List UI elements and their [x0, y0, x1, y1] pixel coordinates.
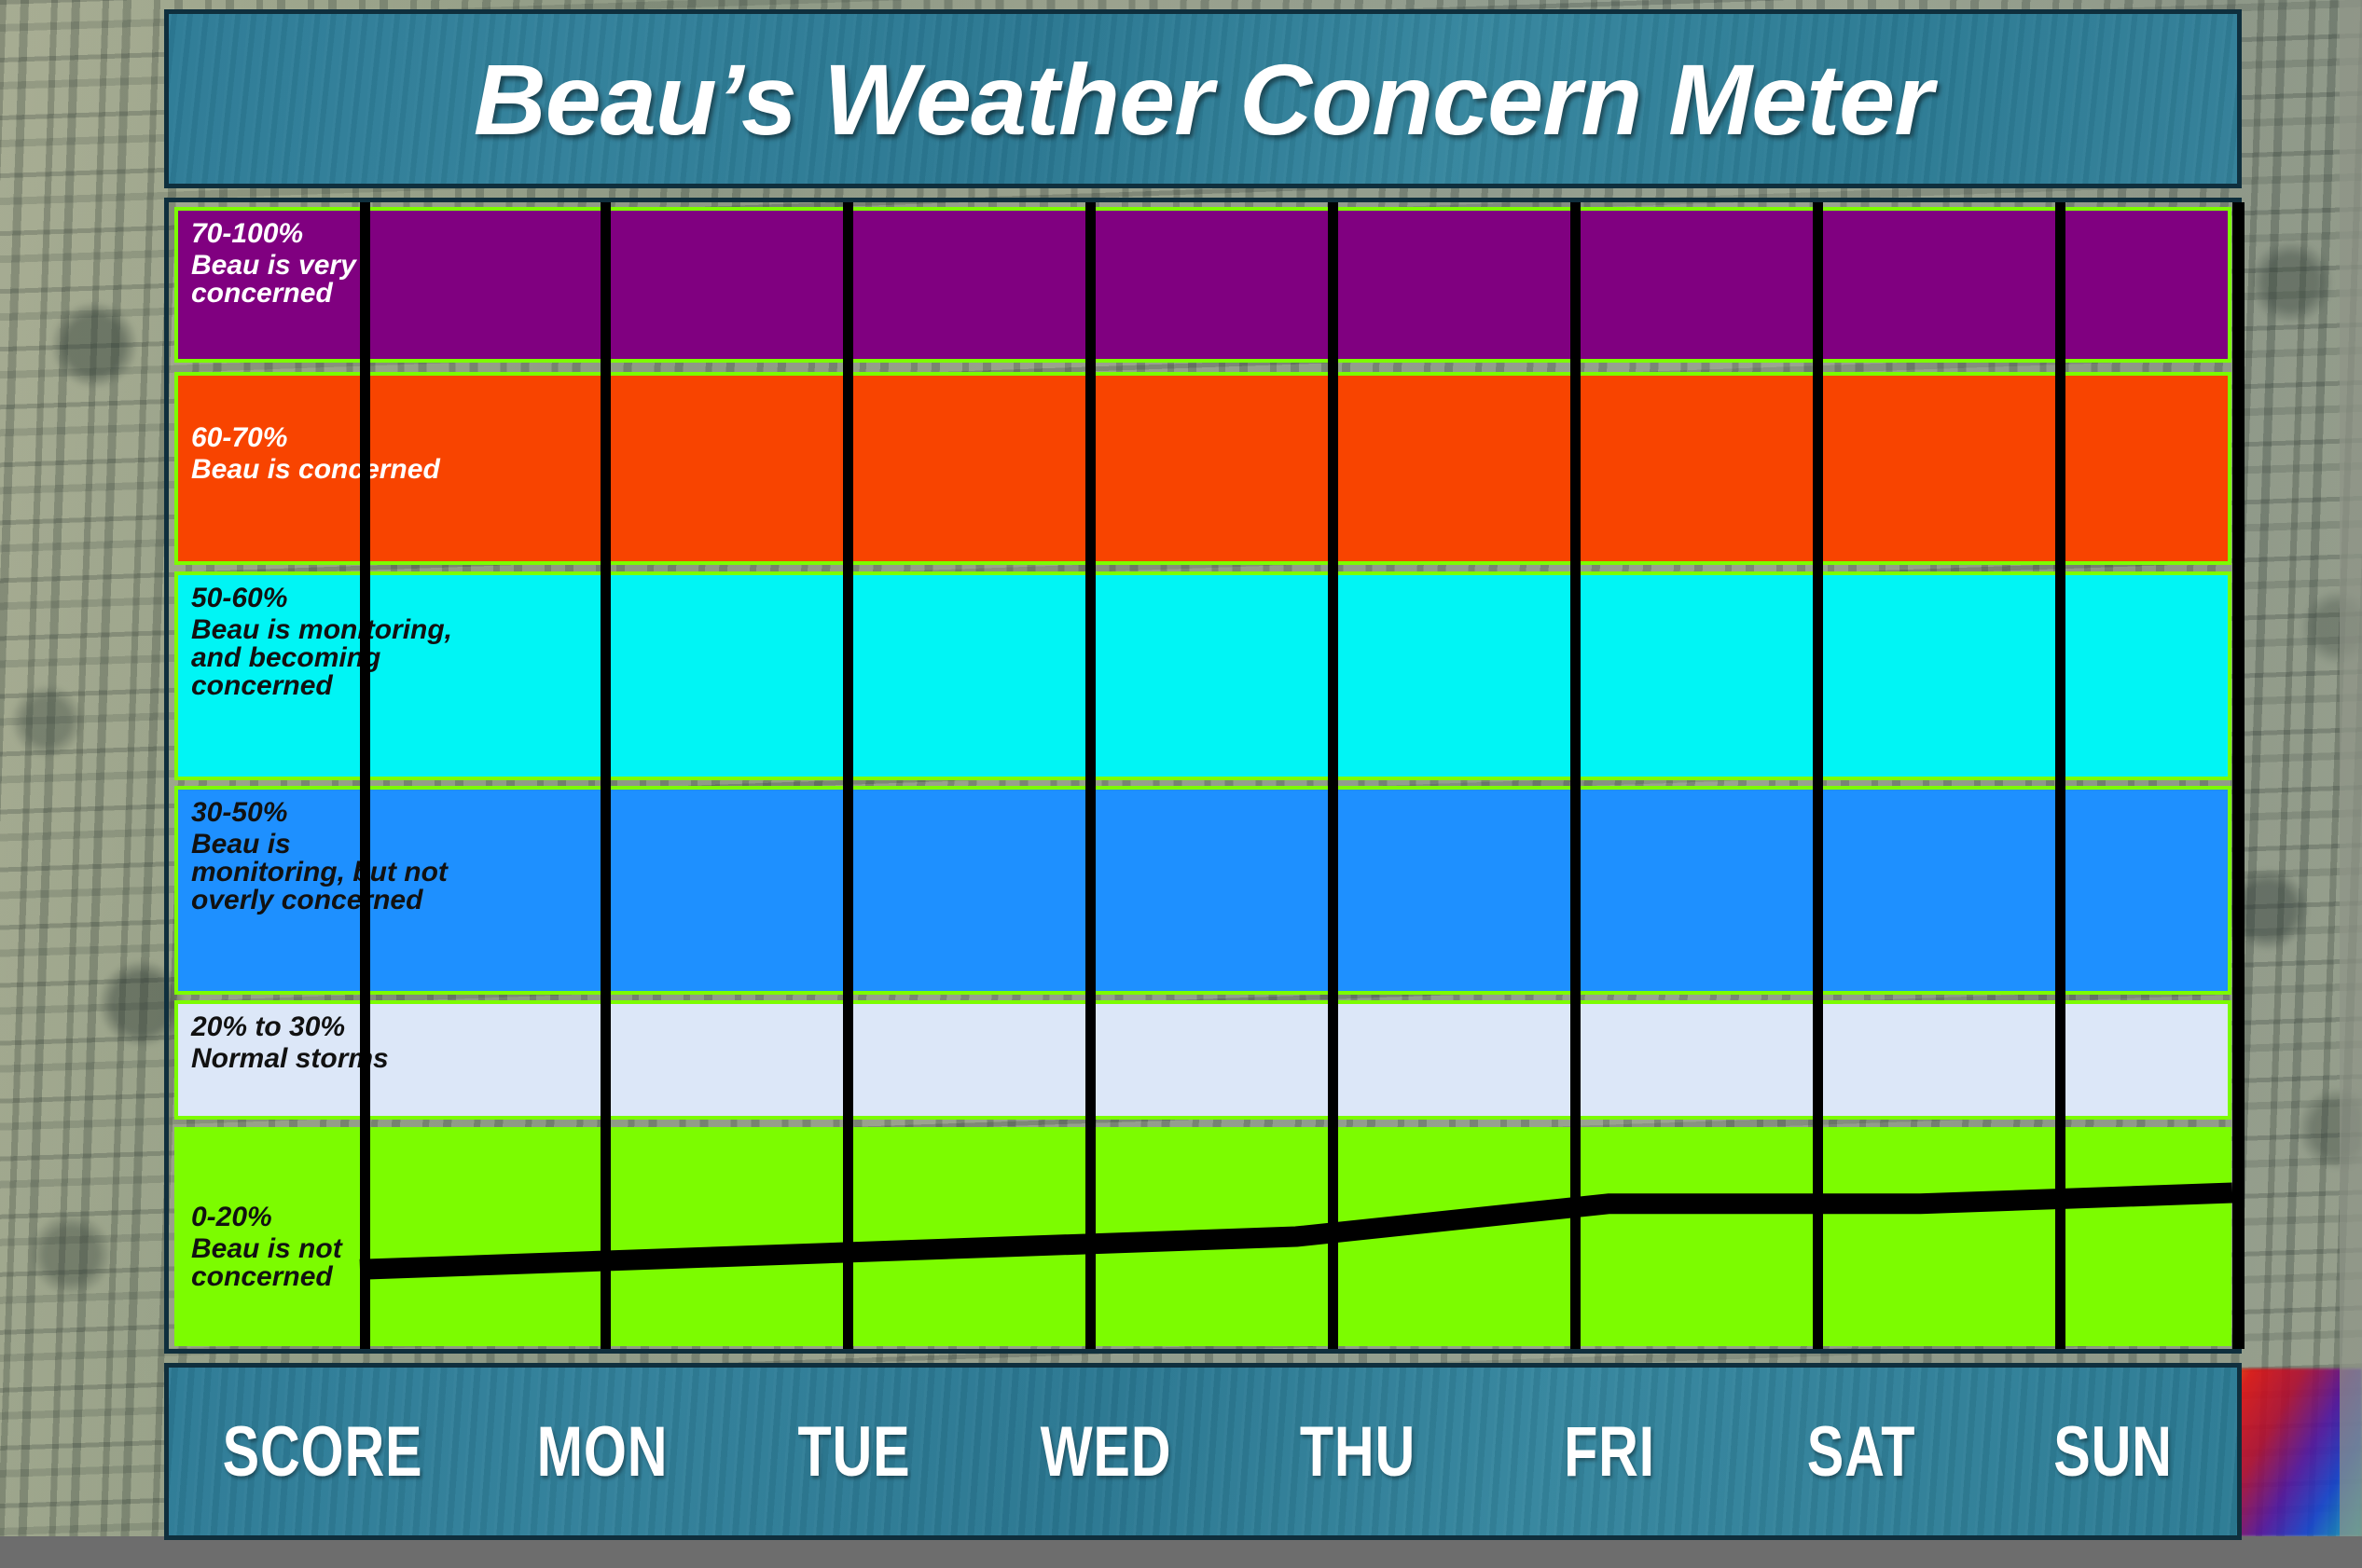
concern-band-label: 20% to 30%Normal storms: [191, 1013, 389, 1073]
day-axis-bar: SCOREMONTUEWEDTHUFRISATSUN: [164, 1363, 2242, 1540]
background-right-edge: [2340, 0, 2362, 1536]
day-label-mon: MON: [504, 1368, 701, 1535]
concern-band-label: 0-20%Beau is not concerned: [191, 1204, 342, 1291]
concern-band-range: 60-70%: [191, 424, 440, 452]
concern-band-range: 20% to 30%: [191, 1013, 389, 1041]
concern-band-30-50-: 30-50%Beau is monitoring, but not overly…: [174, 786, 2231, 995]
concern-band-range: 30-50%: [191, 799, 448, 827]
day-label-thu: THU: [1260, 1368, 1457, 1535]
score-axis-label: SCORE: [202, 1368, 442, 1535]
concern-band-description: Beau is not concerned: [191, 1235, 342, 1291]
bottom-gray-strip: [0, 1536, 2362, 1568]
concern-band-50-60-: 50-60%Beau is monitoring, and becoming c…: [174, 571, 2231, 780]
concern-band-description: Beau is monitoring, but not overly conce…: [191, 831, 448, 915]
title-bar: Beau’s Weather Concern Meter: [164, 9, 2242, 188]
day-label-fri: FRI: [1512, 1368, 1708, 1535]
concern-band-70-100-: 70-100%Beau is very concerned: [174, 207, 2231, 363]
concern-band-label: 50-60%Beau is monitoring, and becoming c…: [191, 585, 452, 700]
page-title: Beau’s Weather Concern Meter: [169, 14, 2237, 184]
concern-band-range: 70-100%: [191, 220, 356, 248]
concern-band-label: 60-70%Beau is concerned: [191, 424, 440, 484]
day-label-wed: WED: [1008, 1368, 1205, 1535]
day-label-sat: SAT: [1763, 1368, 1960, 1535]
day-label-sun: SUN: [2015, 1368, 2212, 1535]
concern-band-label: 70-100%Beau is very concerned: [191, 220, 356, 308]
concern-meter-chart: 70-100%Beau is very concerned60-70%Beau …: [164, 198, 2242, 1354]
concern-band-label: 30-50%Beau is monitoring, but not overly…: [191, 799, 448, 915]
concern-band-range: 0-20%: [191, 1204, 342, 1231]
concern-band-description: Beau is monitoring, and becoming concern…: [191, 616, 452, 700]
concern-band-list: 70-100%Beau is very concerned60-70%Beau …: [169, 202, 2237, 1349]
concern-band-description: Beau is concerned: [191, 456, 440, 484]
concern-band-0-20-: 0-20%Beau is not concerned: [174, 1127, 2231, 1346]
day-axis-row: SCOREMONTUEWEDTHUFRISATSUN: [169, 1368, 2237, 1535]
concern-band-60-70-: 60-70%Beau is concerned: [174, 372, 2231, 565]
concern-band-description: Beau is very concerned: [191, 252, 356, 308]
concern-band-20-to-30-: 20% to 30%Normal storms: [174, 1000, 2231, 1120]
concern-band-description: Normal storms: [191, 1045, 389, 1073]
day-label-tue: TUE: [756, 1368, 953, 1535]
concern-band-range: 50-60%: [191, 585, 452, 612]
